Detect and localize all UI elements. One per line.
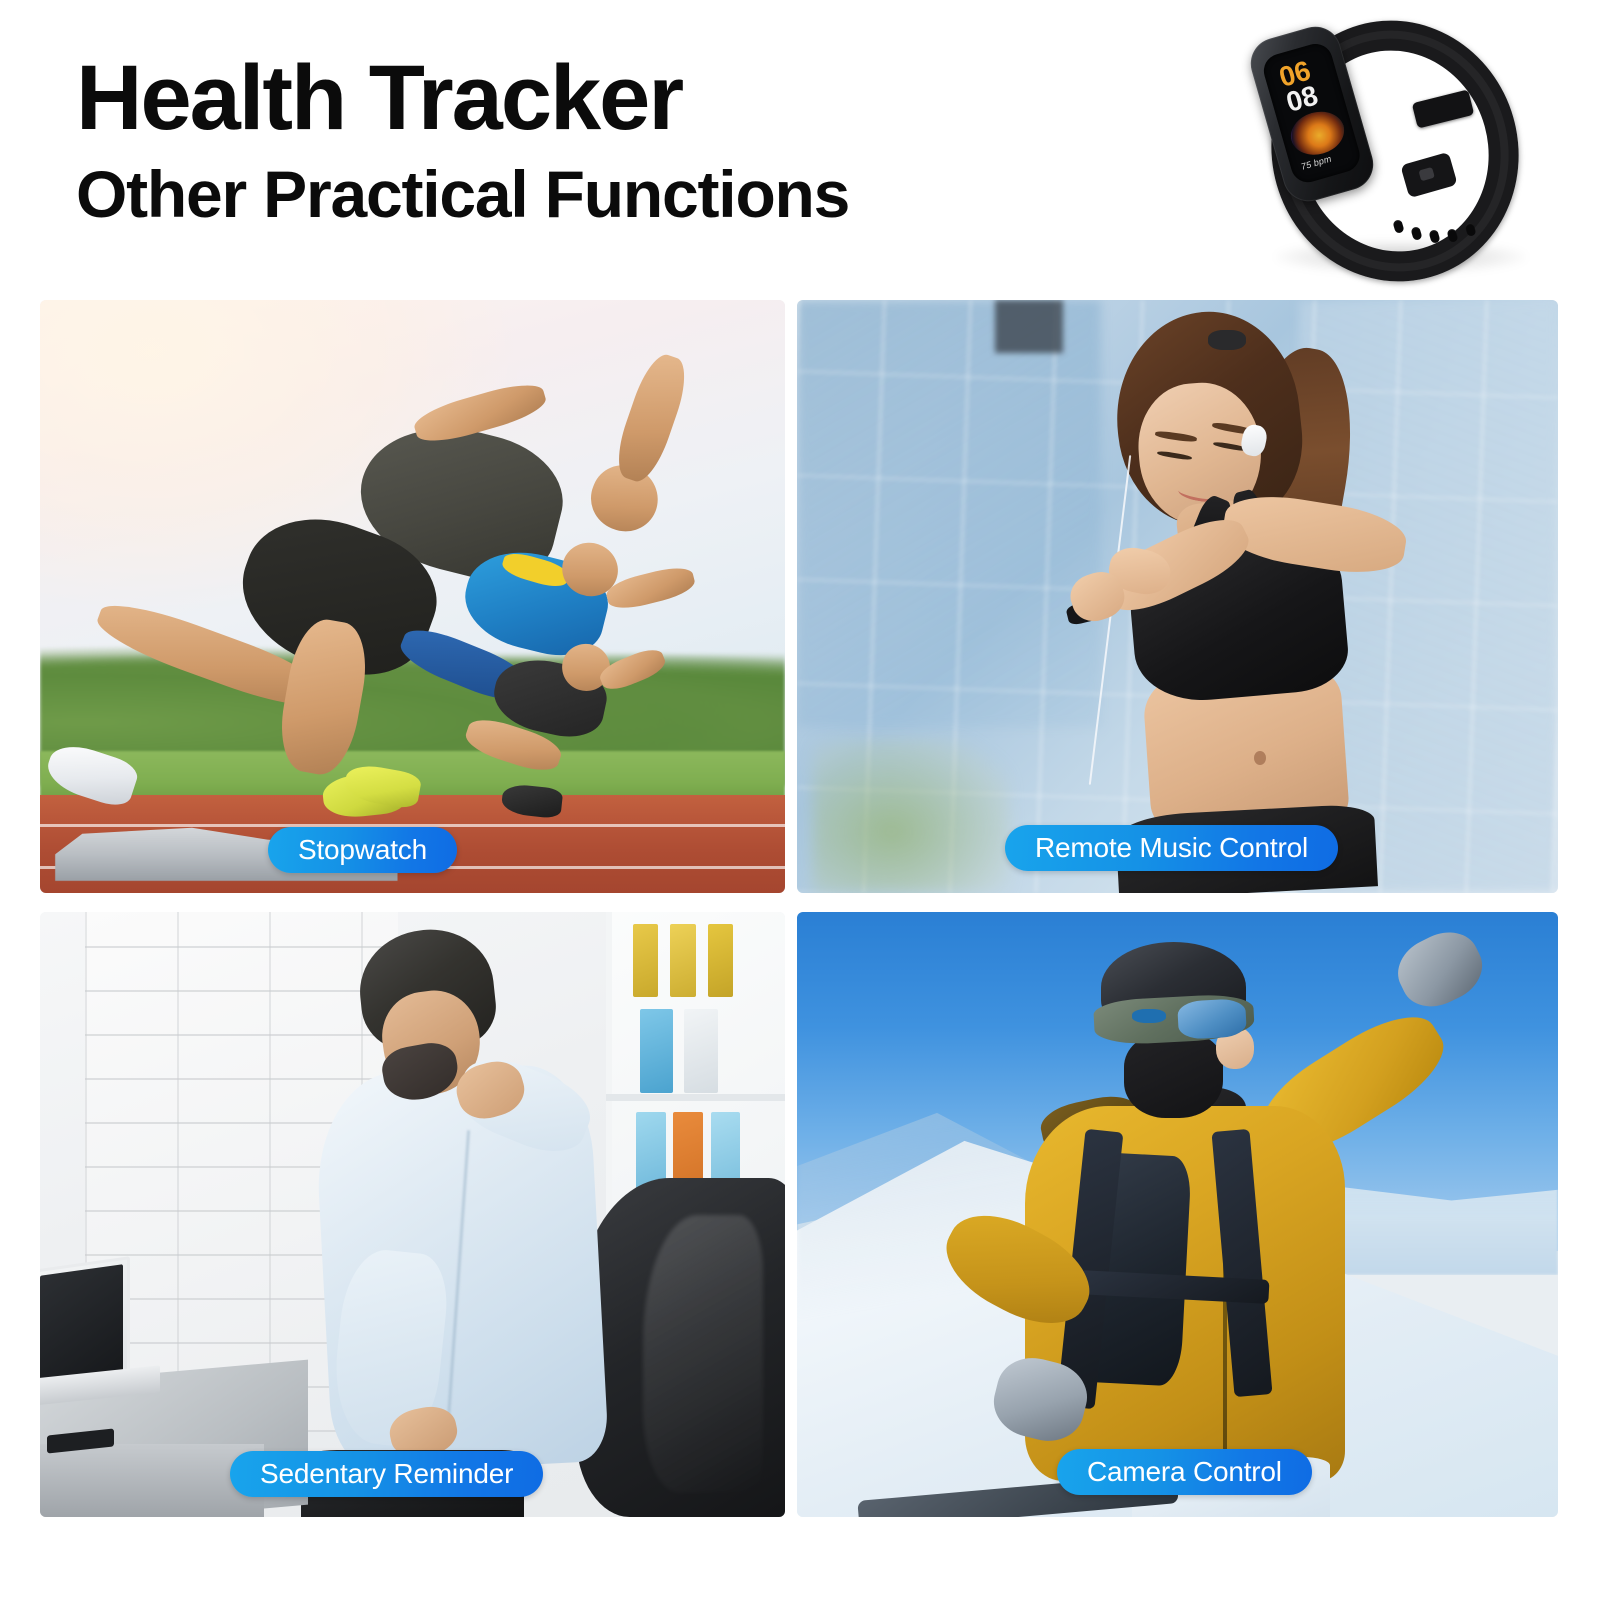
feature-card-sedentary-reminder[interactable]: Sedentary Reminder	[40, 912, 785, 1517]
chair-highlight	[643, 1215, 762, 1493]
binder	[708, 924, 733, 997]
foliage-blur	[812, 739, 1010, 893]
infographic-page: Health Tracker Other Practical Functions…	[0, 0, 1600, 1600]
feature-label-stopwatch[interactable]: Stopwatch	[268, 827, 457, 873]
feature-card-camera-control[interactable]: Camera Control	[797, 912, 1558, 1517]
shelf-board	[606, 1094, 785, 1101]
page-subtitle: Other Practical Functions	[76, 160, 849, 229]
feature-grid: Stopwatch	[40, 300, 1558, 1517]
binder	[633, 924, 658, 997]
feature-card-stopwatch[interactable]: Stopwatch	[40, 300, 785, 893]
feature-label-camera-control[interactable]: Camera Control	[1057, 1449, 1312, 1495]
photo-office-back-pain	[40, 912, 785, 1517]
face-mask	[1124, 1033, 1223, 1118]
runner-back	[40, 300, 785, 893]
desk-front	[40, 1444, 264, 1517]
runner-shoe	[501, 783, 563, 819]
dark-window	[995, 300, 1063, 353]
navel	[1254, 751, 1266, 765]
photo-sprinters	[40, 300, 785, 893]
goggle-lens	[1177, 999, 1247, 1040]
photo-woman-with-earbuds	[797, 300, 1558, 893]
binder	[670, 924, 695, 997]
header: Health Tracker Other Practical Functions…	[0, 0, 1600, 300]
page-title: Health Tracker	[76, 52, 849, 146]
product-image-fitness-tracker: 06 08 75 bpm	[1218, 8, 1588, 298]
runner-arm	[596, 644, 668, 694]
feature-label-remote-music-control[interactable]: Remote Music Control	[1005, 825, 1338, 871]
binder	[684, 1009, 718, 1094]
hair-tie	[1208, 330, 1246, 351]
goggle-brand-mark	[1132, 1009, 1166, 1024]
feature-label-sedentary-reminder[interactable]: Sedentary Reminder	[230, 1451, 543, 1497]
feature-card-remote-music-control[interactable]: Remote Music Control	[797, 300, 1558, 893]
watch-heart-rate-value: 75 bpm	[1300, 154, 1333, 172]
binder	[640, 1009, 674, 1094]
title-block: Health Tracker Other Practical Functions	[76, 52, 849, 229]
photo-skier-on-mountain	[797, 912, 1558, 1517]
